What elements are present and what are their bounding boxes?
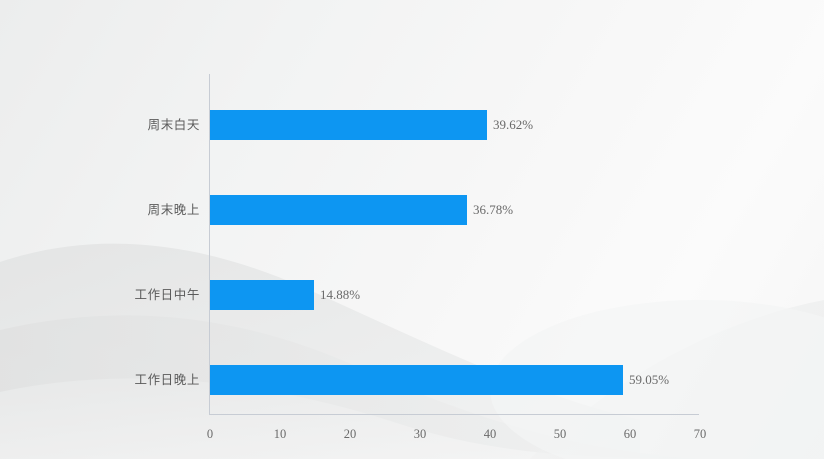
x-tick-label-5: 50 bbox=[540, 428, 580, 441]
category-label-0: 周末白天 bbox=[148, 118, 200, 132]
x-tick-label-6: 60 bbox=[610, 428, 650, 441]
value-label-0: 39.62% bbox=[493, 118, 533, 132]
slide-canvas: 周末白天 周末晚上 工作日中午 工作日晚上 39.62% 36.78% 14.8… bbox=[0, 0, 824, 459]
value-label-1: 36.78% bbox=[473, 203, 513, 217]
x-tick-label-3: 30 bbox=[400, 428, 440, 441]
category-label-2: 工作日中午 bbox=[134, 288, 200, 302]
x-axis-line bbox=[209, 414, 699, 415]
category-label-1: 周末晚上 bbox=[148, 203, 200, 217]
x-tick-label-2: 20 bbox=[330, 428, 370, 441]
bar-2[interactable] bbox=[210, 280, 314, 310]
value-label-3: 59.05% bbox=[629, 373, 669, 387]
bar-chart: 周末白天 周末晚上 工作日中午 工作日晚上 39.62% 36.78% 14.8… bbox=[0, 0, 824, 459]
x-tick-label-1: 10 bbox=[260, 428, 300, 441]
bar-0[interactable] bbox=[210, 110, 487, 140]
bar-3[interactable] bbox=[210, 365, 623, 395]
bar-1[interactable] bbox=[210, 195, 467, 225]
x-tick-label-7: 70 bbox=[680, 428, 720, 441]
value-label-2: 14.88% bbox=[320, 288, 360, 302]
x-tick-label-4: 40 bbox=[470, 428, 510, 441]
category-label-3: 工作日晚上 bbox=[134, 373, 200, 387]
x-tick-label-0: 0 bbox=[190, 428, 230, 441]
